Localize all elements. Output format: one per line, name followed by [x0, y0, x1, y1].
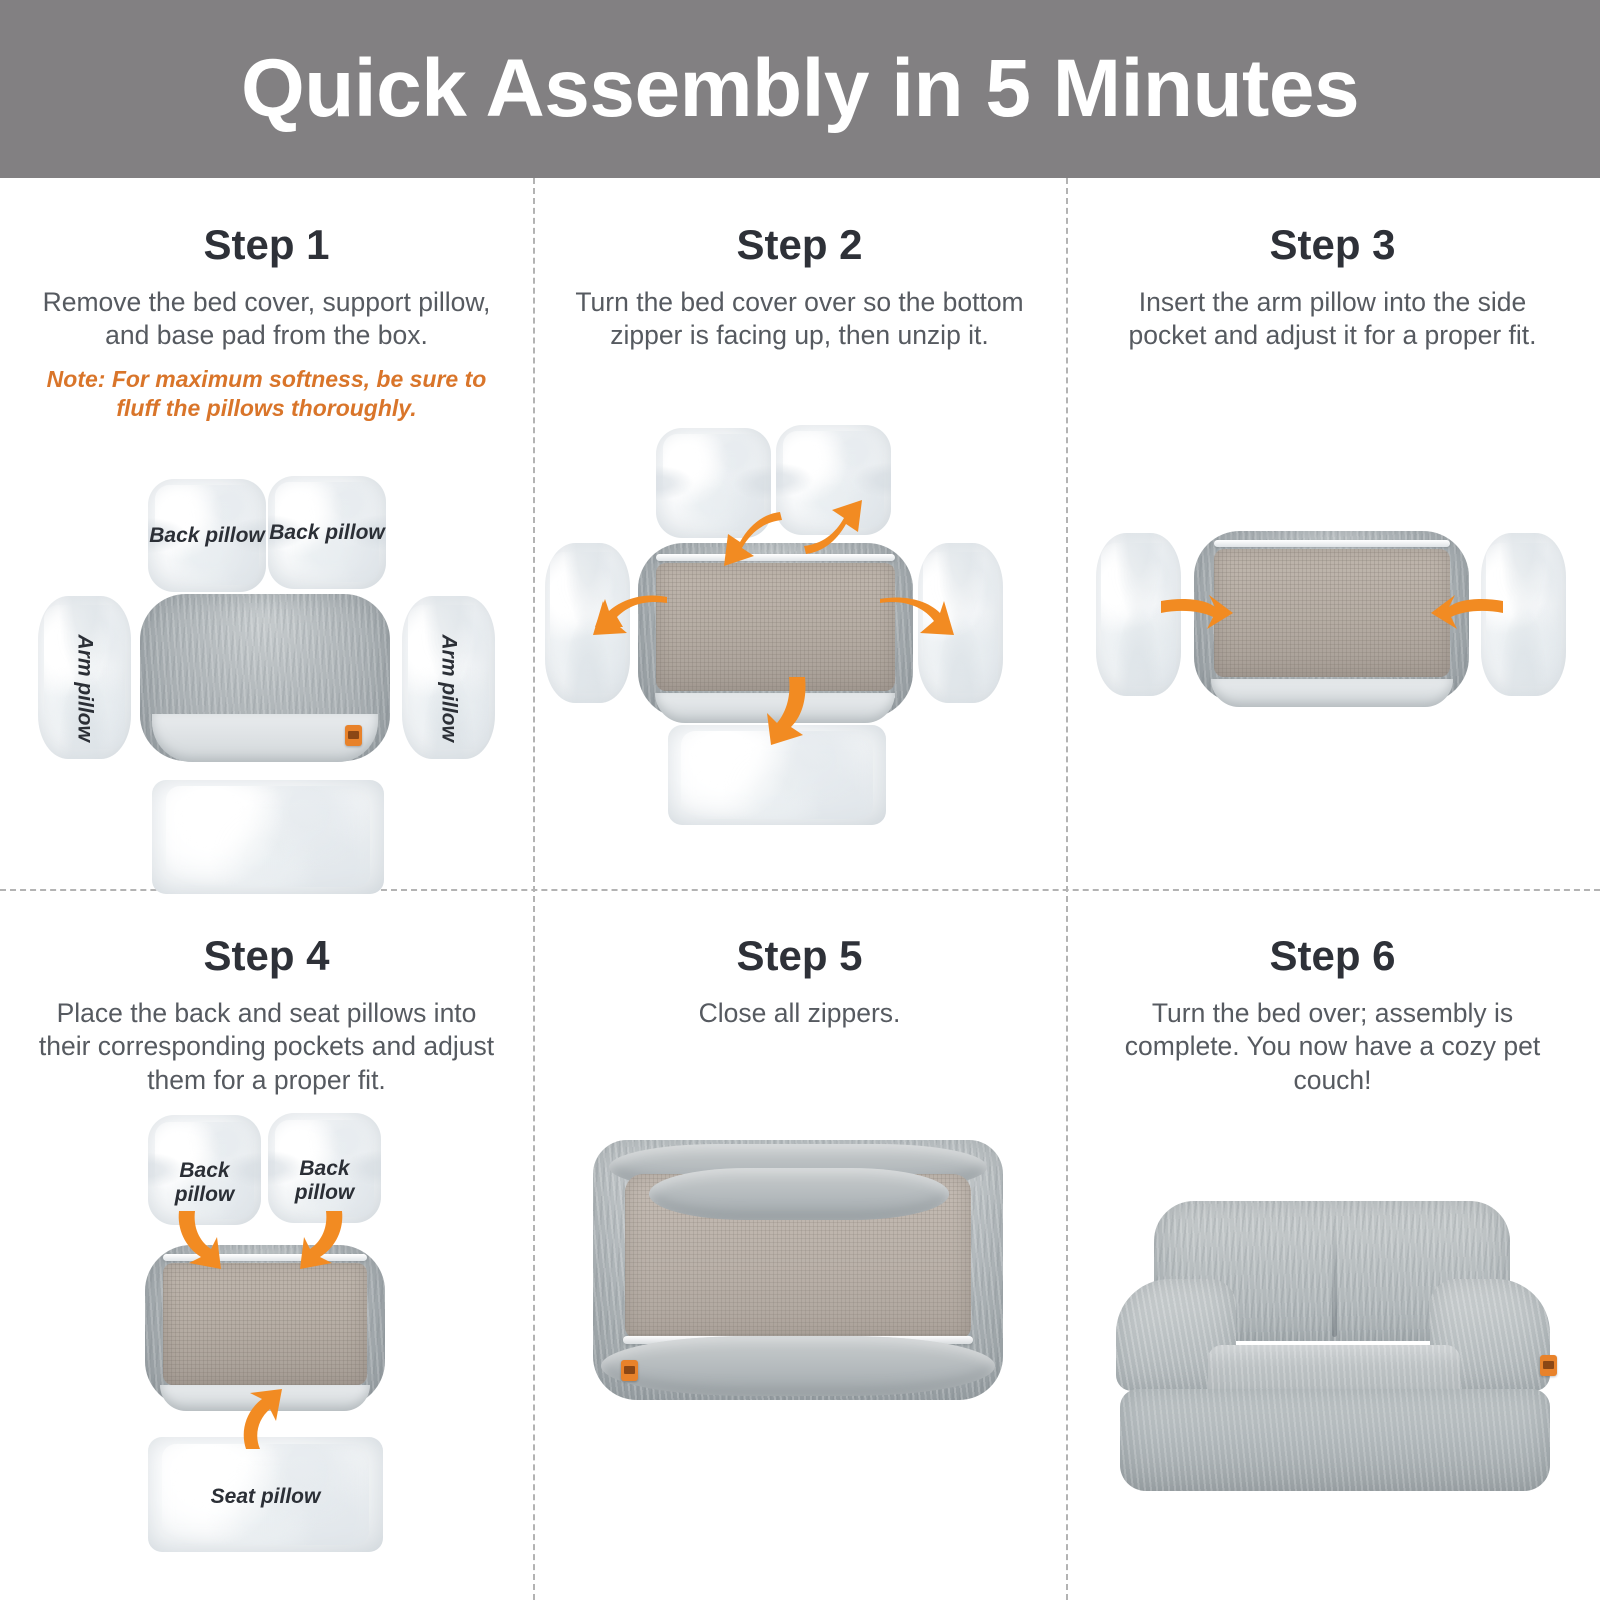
header-bar: Quick Assembly in 5 Minutes	[0, 0, 1600, 178]
arm-pillow-right-label: Arm pillow	[437, 634, 461, 727]
step-card-6: Step 6 Turn the bed over; assembly is co…	[1066, 889, 1599, 1600]
step-3-title: Step 3	[1269, 224, 1395, 266]
step-4-illustration: Back pillow Back pillow	[0, 1097, 533, 1600]
step-card-1: Step 1 Remove the bed cover, support pil…	[0, 178, 533, 889]
couch-backrest-seam	[1332, 1215, 1337, 1337]
step-5-description: Close all zippers.	[565, 997, 1035, 1030]
page-title: Quick Assembly in 5 Minutes	[241, 48, 1359, 130]
back-pillow-left-label: Back pillow	[148, 524, 266, 548]
step-3-description: Insert the arm pillow into the side pock…	[1098, 286, 1568, 353]
cover-open-flap	[1211, 679, 1453, 707]
seat-pillow-label: Seat pillow	[148, 1485, 383, 1509]
step-6-illustration	[1066, 1097, 1599, 1600]
cover-zipper-top	[1214, 540, 1450, 547]
brand-tag-icon	[345, 725, 362, 746]
step-card-2: Step 2 Turn the bed cover over so the bo…	[533, 178, 1066, 889]
step-2-title: Step 2	[736, 224, 862, 266]
closed-bed	[593, 1140, 1003, 1400]
step-1-note: Note: For maximum softness, be sure to f…	[47, 365, 487, 424]
step-5-title: Step 5	[736, 935, 862, 977]
step-4-title: Step 4	[203, 935, 329, 977]
infographic-page: Quick Assembly in 5 Minutes Step 1 Remov…	[0, 0, 1600, 1600]
step-6-title: Step 6	[1269, 935, 1395, 977]
brand-tag-icon	[621, 1360, 638, 1381]
cover-inner-mesh	[656, 563, 895, 691]
back-pillow-right-label: Back pillow	[268, 521, 386, 545]
closed-bed-inner-roll	[649, 1168, 949, 1220]
step-2-illustration	[533, 353, 1066, 889]
step-3-illustration	[1066, 353, 1599, 889]
step-6-description: Turn the bed over; assembly is complete.…	[1098, 997, 1568, 1097]
arm-pillow-left-label: Arm pillow	[73, 634, 97, 727]
finished-pet-couch	[1092, 1193, 1572, 1503]
closed-bed-bottom-roll	[601, 1336, 995, 1396]
step-5-illustration	[533, 1030, 1066, 1600]
brand-tag-icon	[1540, 1355, 1557, 1376]
cover-inner-mesh	[163, 1263, 367, 1385]
steps-grid: Step 1 Remove the bed cover, support pil…	[0, 178, 1600, 1600]
step-1-description: Remove the bed cover, support pillow, an…	[32, 286, 502, 353]
couch-base	[1120, 1389, 1550, 1491]
cover-inner-mesh	[1214, 549, 1450, 677]
step-card-5: Step 5 Close all zippers.	[533, 889, 1066, 1600]
step-1-title: Step 1	[203, 224, 329, 266]
step-4-description: Place the back and seat pillows into the…	[32, 997, 502, 1097]
back-pillow-left-label: Back pillow	[148, 1159, 261, 1207]
bed-cover-unzipped	[1194, 531, 1469, 703]
step-2-description: Turn the bed cover over so the bottom zi…	[565, 286, 1035, 353]
step-card-3: Step 3 Insert the arm pillow into the si…	[1066, 178, 1599, 889]
base-pad	[152, 780, 384, 894]
back-pillow-right-label: Back pillow	[268, 1157, 381, 1205]
step-1-illustration: Back pillow Back pillow Arm pillow Arm p…	[0, 424, 533, 889]
step-card-4: Step 4 Place the back and seat pillows i…	[0, 889, 533, 1600]
